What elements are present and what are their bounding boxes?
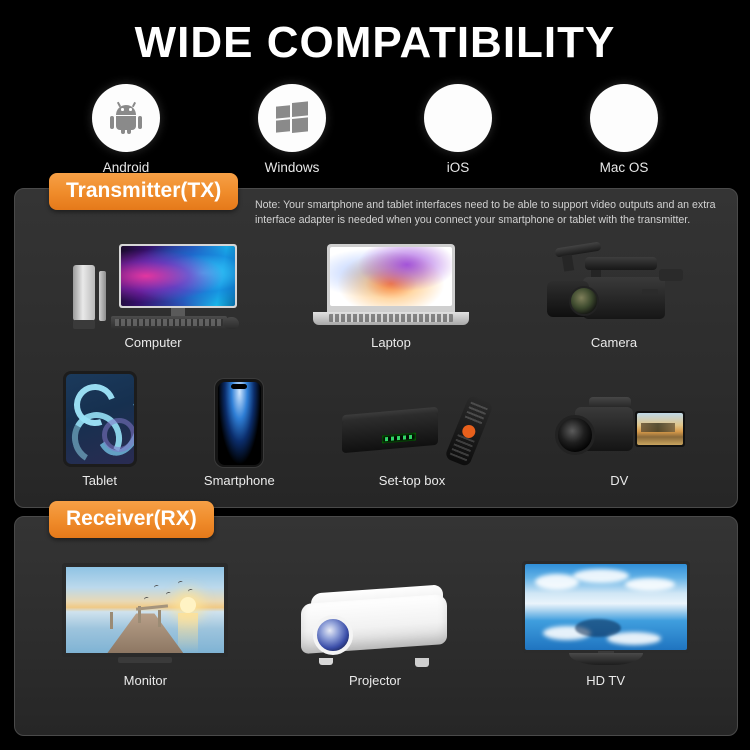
wide-compatibility-infographic: WIDE COMPATIBILITY Android Windows xyxy=(0,0,750,750)
page-title: WIDE COMPATIBILITY xyxy=(0,18,750,68)
device-label-smartphone: Smartphone xyxy=(204,473,275,488)
os-item-android: Android xyxy=(76,84,176,175)
transmitter-row-2: Tablet Smartphone Set-top box xyxy=(29,371,723,488)
laptop-image xyxy=(311,244,471,329)
os-item-macos: Mac OS xyxy=(574,84,674,175)
transmitter-badge: Transmitter(TX) xyxy=(49,173,238,210)
hdtv-image xyxy=(522,561,690,667)
device-dv: DV xyxy=(549,389,689,488)
os-item-ios: iOS xyxy=(408,84,508,175)
dv-camcorder-image xyxy=(549,389,689,467)
desktop-computer-image xyxy=(63,244,243,329)
receiver-row: Monitor Projector xyxy=(29,561,723,688)
device-projector: Projector xyxy=(295,575,455,688)
transmitter-note: Note: Your smartphone and tablet interfa… xyxy=(255,198,721,229)
windows-icon xyxy=(276,101,308,134)
os-label-windows: Windows xyxy=(265,160,320,175)
apple-macos-icon xyxy=(609,103,639,133)
device-label-projector: Projector xyxy=(349,673,401,688)
android-icon xyxy=(109,102,143,134)
os-support-row: Android Windows iOS Mac OS xyxy=(0,84,750,175)
device-label-tablet: Tablet xyxy=(82,473,117,488)
transmitter-panel: Transmitter(TX) Note: Your smartphone an… xyxy=(14,188,738,508)
device-label-monitor: Monitor xyxy=(124,673,167,688)
transmitter-row-1: Computer Laptop xyxy=(29,241,723,350)
device-monitor: Monitor xyxy=(62,563,228,688)
os-label-macos: Mac OS xyxy=(600,160,649,175)
os-item-windows: Windows xyxy=(242,84,342,175)
receiver-panel: Receiver(RX) xyxy=(14,516,738,736)
device-set-top-box: Set-top box xyxy=(342,397,482,488)
device-tablet: Tablet xyxy=(63,371,137,488)
os-label-ios: iOS xyxy=(447,160,470,175)
os-circle-ios xyxy=(424,84,492,152)
apple-ios-icon xyxy=(443,103,473,133)
device-label-dv: DV xyxy=(610,473,628,488)
professional-camcorder-image xyxy=(539,241,689,329)
device-label-camera: Camera xyxy=(591,335,637,350)
set-top-box-image xyxy=(342,397,482,467)
device-computer: Computer xyxy=(63,244,243,350)
receiver-badge: Receiver(RX) xyxy=(49,501,214,538)
projector-image xyxy=(295,575,455,667)
smartphone-image xyxy=(215,379,263,467)
device-laptop: Laptop xyxy=(311,244,471,350)
device-label-laptop: Laptop xyxy=(371,335,411,350)
device-hdtv: HD TV xyxy=(522,561,690,688)
device-smartphone: Smartphone xyxy=(204,379,275,488)
monitor-image xyxy=(62,563,228,667)
os-circle-windows xyxy=(258,84,326,152)
device-label-set-top-box: Set-top box xyxy=(379,473,446,488)
device-camera: Camera xyxy=(539,241,689,350)
device-label-computer: Computer xyxy=(124,335,181,350)
tablet-image xyxy=(63,371,137,467)
os-circle-android xyxy=(92,84,160,152)
os-circle-macos xyxy=(590,84,658,152)
device-label-hdtv: HD TV xyxy=(586,673,625,688)
